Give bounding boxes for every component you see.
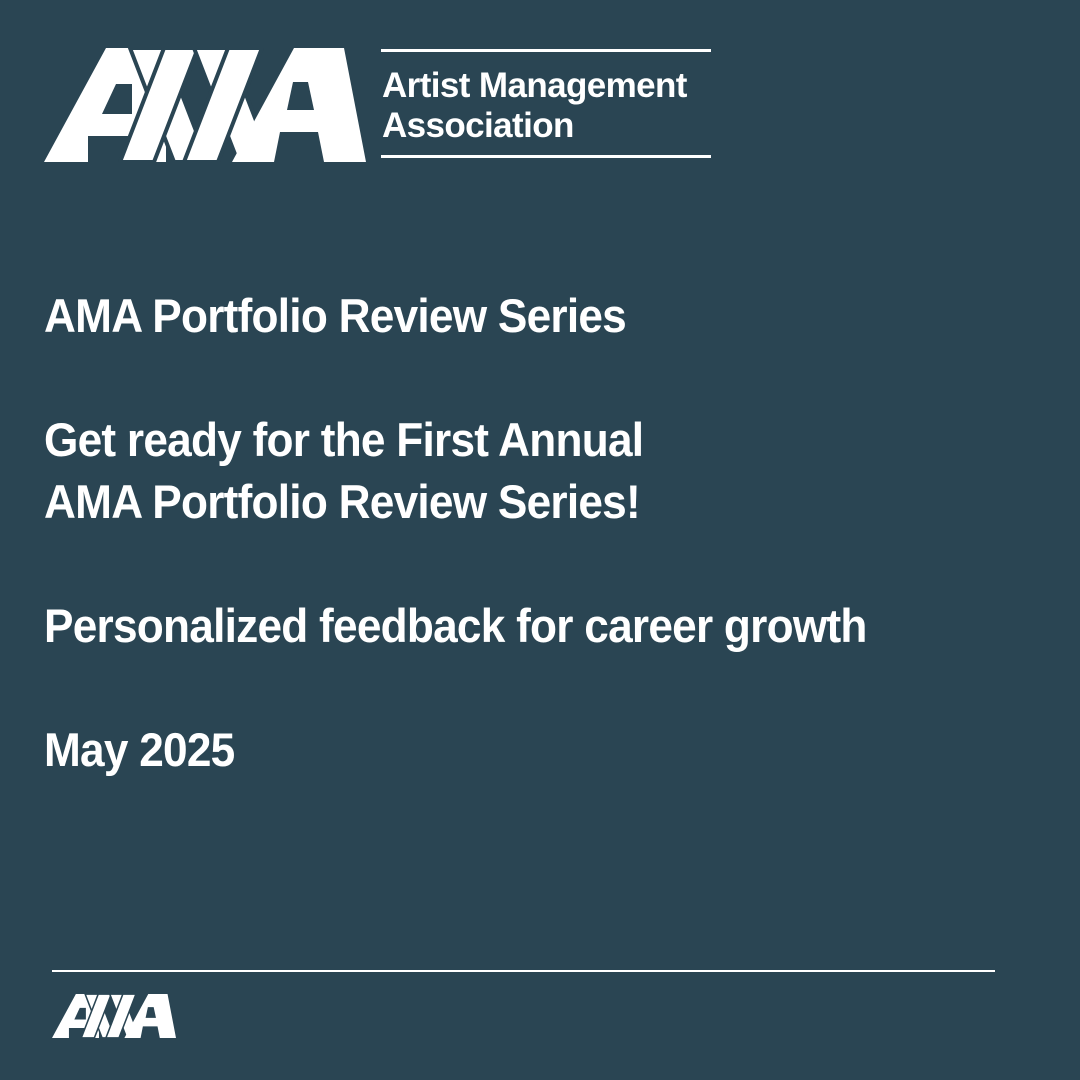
footer-divider <box>52 970 995 972</box>
headline-text: AMA Portfolio Review Series <box>44 285 984 347</box>
lead-paragraph: Get ready for the First Annual AMA Portf… <box>44 409 984 533</box>
ama-monogram-icon <box>52 994 176 1038</box>
ama-monogram-icon <box>44 48 366 162</box>
main-copy: AMA Portfolio Review Series Get ready fo… <box>44 285 1044 781</box>
poster-canvas: Artist Management Association AMA Portfo… <box>0 0 1080 1080</box>
benefit-text: Personalized feedback for career growth <box>44 595 984 657</box>
brand-wordmark-text: Artist Management Association <box>382 66 712 146</box>
event-date-text: May 2025 <box>44 719 984 781</box>
brand-lockup: Artist Management Association <box>44 44 724 166</box>
footer <box>52 962 995 1046</box>
lockup-rule-bottom <box>381 155 711 158</box>
brand-wordmark-group: Artist Management Association <box>381 44 711 164</box>
lockup-rule-top <box>381 49 711 52</box>
